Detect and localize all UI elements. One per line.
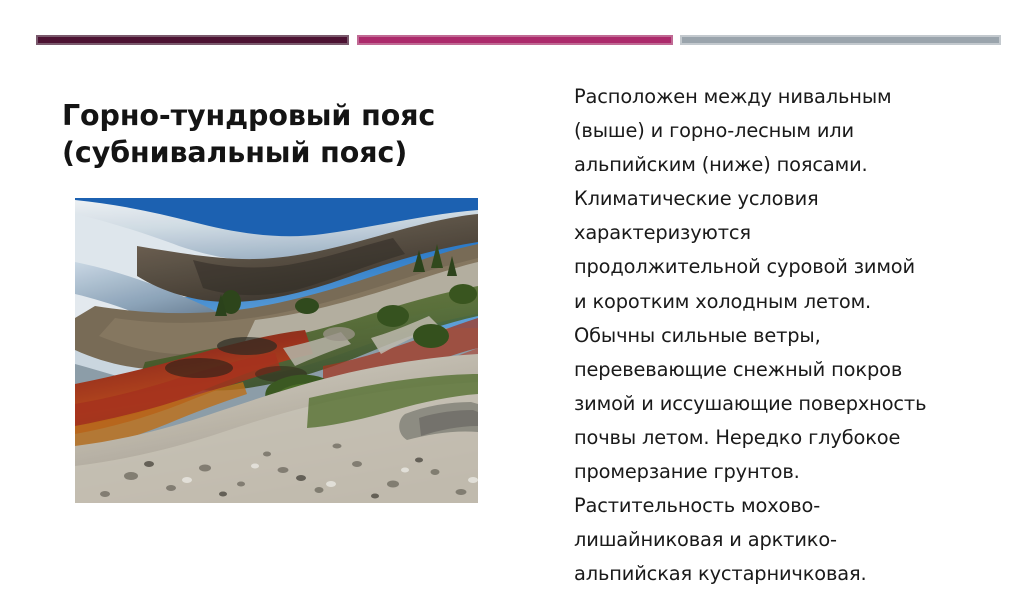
body-paragraph: Расположен между нивальным (выше) и горн… (574, 80, 994, 591)
rule-segment-steel-grey (680, 35, 1001, 45)
body-line-14: лишайниковая и арктико- (574, 523, 994, 557)
body-line-7: и коротким холодным летом. (574, 285, 994, 319)
body-line-12: промерзание грунтов. (574, 455, 994, 489)
body-line-1: Расположен между нивальным (574, 80, 994, 114)
rule-segment-magenta-fill (359, 37, 671, 43)
body-line-10: зимой и иссушающие поверхность (574, 387, 994, 421)
slide-title-line-2: (субнивальный пояс) (62, 134, 532, 171)
decorative-rule-band (0, 35, 1024, 47)
body-line-3: альпийским (ниже) поясами. (574, 148, 994, 182)
rule-segment-dark-plum-fill (38, 37, 347, 43)
slide-title: Горно-тундровый пояс (субнивальный пояс) (62, 97, 532, 171)
body-line-6: продолжительной суровой зимой (574, 250, 994, 284)
body-line-5: характеризуются (574, 216, 994, 250)
body-line-8: Обычны сильные ветры, (574, 319, 994, 353)
body-text-column: Расположен между нивальным (выше) и горн… (574, 80, 994, 591)
body-line-13: Растительность мохово- (574, 489, 994, 523)
landscape-photo (75, 198, 478, 503)
body-line-11: почвы летом. Нередко глубокое (574, 421, 994, 455)
landscape-photo-canvas (75, 198, 478, 503)
body-line-15: альпийская кустарничковая. (574, 557, 994, 591)
landscape-photo-svg (75, 198, 478, 503)
rule-segment-steel-grey-fill (682, 37, 999, 43)
slide-title-line-1: Горно-тундровый пояс (62, 97, 532, 134)
body-line-4: Климатические условия (574, 182, 994, 216)
rule-segment-dark-plum (36, 35, 349, 45)
body-line-9: перевевающие снежный покров (574, 353, 994, 387)
rule-segment-magenta (357, 35, 673, 45)
photo-texture-veil (75, 198, 478, 503)
body-line-2: (выше) и горно-лесным или (574, 114, 994, 148)
